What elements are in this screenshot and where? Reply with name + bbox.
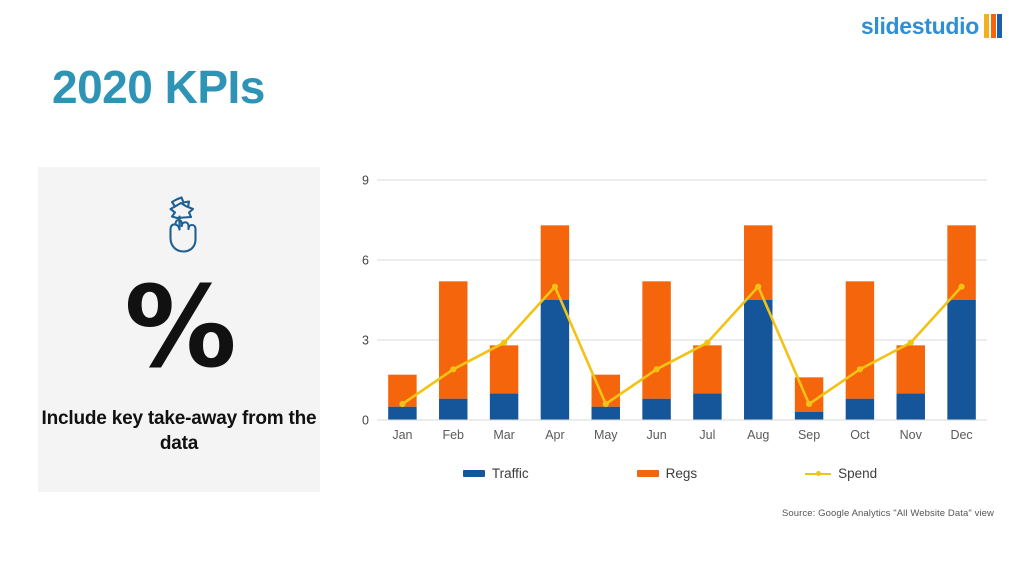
line-point-spend bbox=[704, 340, 710, 346]
x-tick-label: Dec bbox=[950, 428, 972, 442]
y-tick-label: 0 bbox=[362, 414, 369, 428]
x-tick-label: Nov bbox=[900, 428, 923, 442]
legend-marker-spend bbox=[805, 469, 831, 479]
bar-segment-traffic bbox=[947, 300, 975, 420]
line-point-spend bbox=[857, 366, 863, 372]
line-point-spend bbox=[755, 284, 761, 290]
slide: slidestudio 2020 KPIs % Include key take… bbox=[0, 0, 1024, 576]
bar-segment-regs bbox=[642, 281, 670, 398]
takeaway-caption: Include key take-away from the data bbox=[38, 406, 320, 457]
tap-hand-icon bbox=[152, 194, 206, 256]
bar-segment-traffic bbox=[592, 407, 620, 420]
page-title: 2020 KPIs bbox=[52, 60, 265, 114]
bar-segment-regs bbox=[897, 345, 925, 393]
kpi-chart: 0369JanFebMarAprMayJunJulAugSepOctNovDec bbox=[345, 160, 995, 460]
x-tick-label: Mar bbox=[493, 428, 515, 442]
legend-label-regs: Regs bbox=[666, 466, 698, 481]
bar-segment-traffic bbox=[693, 393, 721, 420]
y-tick-label: 9 bbox=[362, 174, 369, 188]
source-note: Source: Google Analytics "All Website Da… bbox=[782, 508, 994, 519]
bar-segment-traffic bbox=[541, 300, 569, 420]
legend-swatch-regs bbox=[637, 470, 659, 477]
x-tick-label: May bbox=[594, 428, 618, 442]
brand-logo-mark-icon bbox=[984, 14, 1002, 38]
legend-item-traffic[interactable]: Traffic bbox=[463, 466, 529, 481]
line-point-spend bbox=[399, 401, 405, 407]
chart-legend: Traffic Regs Spend bbox=[345, 466, 995, 481]
line-series-spend bbox=[402, 287, 961, 404]
x-tick-label: Oct bbox=[850, 428, 870, 442]
chart-canvas: 0369JanFebMarAprMayJunJulAugSepOctNovDec bbox=[345, 160, 995, 460]
x-tick-label: Jun bbox=[647, 428, 667, 442]
x-tick-label: Apr bbox=[545, 428, 564, 442]
bar-segment-regs bbox=[490, 345, 518, 393]
bar-segment-traffic bbox=[388, 407, 416, 420]
percent-symbol: % bbox=[124, 272, 233, 384]
x-tick-label: Sep bbox=[798, 428, 820, 442]
line-point-spend bbox=[450, 366, 456, 372]
x-tick-label: Feb bbox=[442, 428, 464, 442]
takeaway-card: % Include key take-away from the data bbox=[38, 167, 320, 492]
x-tick-label: Jan bbox=[392, 428, 412, 442]
bar-segment-traffic bbox=[897, 393, 925, 420]
bar-segment-regs bbox=[439, 281, 467, 398]
x-tick-label: Jul bbox=[699, 428, 715, 442]
y-tick-label: 6 bbox=[362, 254, 369, 268]
bar-segment-regs bbox=[846, 281, 874, 398]
bar-segment-regs bbox=[693, 345, 721, 393]
bar-segment-traffic bbox=[846, 399, 874, 420]
brand-logo-text: slidestudio bbox=[861, 15, 979, 38]
line-point-spend bbox=[552, 284, 558, 290]
bar-segment-traffic bbox=[744, 300, 772, 420]
legend-label-spend: Spend bbox=[838, 466, 877, 481]
legend-item-regs[interactable]: Regs bbox=[637, 466, 698, 481]
line-point-spend bbox=[958, 284, 964, 290]
line-point-spend bbox=[603, 401, 609, 407]
bar-segment-traffic bbox=[439, 399, 467, 420]
brand-logo: slidestudio bbox=[861, 14, 1002, 38]
bar-segment-traffic bbox=[642, 399, 670, 420]
line-point-spend bbox=[908, 340, 914, 346]
legend-swatch-traffic bbox=[463, 470, 485, 477]
y-tick-label: 3 bbox=[362, 334, 369, 348]
line-point-spend bbox=[806, 401, 812, 407]
line-point-spend bbox=[501, 340, 507, 346]
bar-segment-traffic bbox=[795, 412, 823, 420]
legend-item-spend[interactable]: Spend bbox=[805, 466, 877, 481]
x-tick-label: Aug bbox=[747, 428, 769, 442]
line-point-spend bbox=[653, 366, 659, 372]
bar-segment-traffic bbox=[490, 393, 518, 420]
legend-label-traffic: Traffic bbox=[492, 466, 529, 481]
